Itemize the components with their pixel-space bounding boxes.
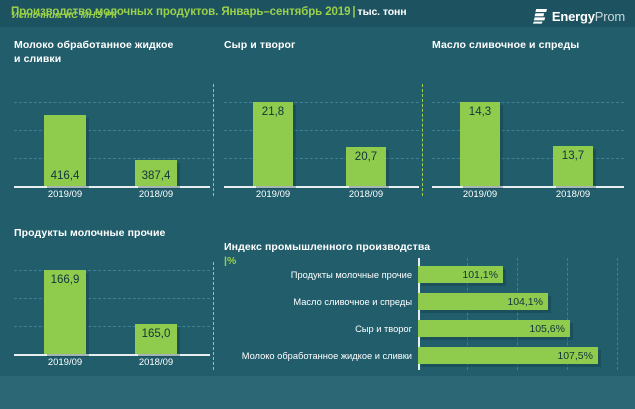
table-row: Молоко обработанное жидкое и сливки 107,… xyxy=(224,347,624,364)
row-label: Сыр и творог xyxy=(355,324,412,334)
bar-value-label: 105,6% xyxy=(529,323,565,335)
bar-2018[interactable]: 13,7 xyxy=(553,146,593,186)
chart-production-index: Продукты молочные прочие 101,1% Масло сл… xyxy=(224,258,624,370)
brand-logo[interactable]: EnergyProm xyxy=(533,8,625,24)
panel-production-index-title-text: Индекс промышленного производства xyxy=(224,241,430,253)
chart-cheese: 21,8 20,7 2019/09 2018/09 xyxy=(224,84,419,196)
bar-index[interactable]: 105,6% xyxy=(418,320,570,337)
x-tick-2018: 2018/09 xyxy=(346,189,386,200)
bar-value-label: 20,7 xyxy=(346,151,386,163)
bar-index[interactable]: 101,1% xyxy=(418,266,503,283)
bar-value-label: 21,8 xyxy=(253,106,293,118)
panel-butter-title: Масло сливочное и спреды xyxy=(432,38,627,52)
axis-baseline xyxy=(14,186,210,188)
table-row: Продукты молочные прочие 101,1% xyxy=(224,266,624,283)
row-label: Молоко обработанное жидкое и сливки xyxy=(242,351,412,361)
axis-baseline xyxy=(224,186,419,188)
footer-band xyxy=(0,376,635,409)
panel-cheese: Сыр и творог xyxy=(224,38,414,52)
bar-2018[interactable]: 20,7 xyxy=(346,147,386,186)
bar-index[interactable]: 104,1% xyxy=(418,293,548,310)
bar-value-label: 166,9 xyxy=(44,274,86,286)
axis-baseline xyxy=(14,354,210,356)
source-note: Источник: КС МНЭ РК xyxy=(12,10,117,21)
bar-value-label: 13,7 xyxy=(553,150,593,162)
chart-butter: 14,3 13,7 2019/09 2018/09 xyxy=(432,84,624,196)
bar-index[interactable]: 107,5% xyxy=(418,347,598,364)
bar-2019[interactable]: 416,4 xyxy=(44,115,86,186)
panel-milk-title: Молоко обработанное жидкое и сливки xyxy=(14,38,209,66)
energyprom-e-icon xyxy=(533,8,548,24)
bar-value-label: 104,1% xyxy=(507,296,543,308)
x-tick-2018: 2018/09 xyxy=(135,357,177,368)
infographic-canvas: Производство молочных продуктов. Январь–… xyxy=(0,0,635,409)
x-tick-2019: 2019/09 xyxy=(253,189,293,200)
divider-vertical-2 xyxy=(422,84,423,196)
x-tick-2019: 2019/09 xyxy=(44,357,86,368)
panel-other-dairy-title: Продукты молочные прочие xyxy=(14,226,209,240)
panel-milk: Молоко обработанное жидкое и сливки xyxy=(14,38,209,66)
bar-2018[interactable]: 165,0 xyxy=(135,324,177,354)
panel-butter: Масло сливочное и спреды xyxy=(432,38,627,52)
x-tick-2018: 2018/09 xyxy=(135,189,177,200)
x-tick-2019: 2019/09 xyxy=(44,189,86,200)
x-tick-2018: 2018/09 xyxy=(553,189,593,200)
bar-2019[interactable]: 166,9 xyxy=(44,270,86,354)
row-label: Продукты молочные прочие xyxy=(291,270,412,280)
brand-energy: Energy xyxy=(552,9,595,24)
bar-value-label: 416,4 xyxy=(44,170,86,182)
chart-milk: 416,4 387,4 2019/09 2018/09 xyxy=(14,84,210,196)
title-separator: | xyxy=(350,6,357,18)
brand-logo-text: EnergyProm xyxy=(552,10,625,23)
bar-2019[interactable]: 14,3 xyxy=(460,102,500,186)
brand-prom: Prom xyxy=(595,9,625,24)
table-row: Масло сливочное и спреды 104,1% xyxy=(224,293,624,310)
table-row: Сыр и творог 105,6% xyxy=(224,320,624,337)
bar-2019[interactable]: 21,8 xyxy=(253,102,293,186)
axis-baseline xyxy=(432,186,624,188)
x-tick-2019: 2019/09 xyxy=(460,189,500,200)
chart-other-dairy: 166,9 165,0 2019/09 2018/09 xyxy=(14,262,210,370)
bar-value-label: 14,3 xyxy=(460,106,500,118)
bar-value-label: 165,0 xyxy=(135,328,177,340)
title-unit: тыс. тонн xyxy=(358,6,407,18)
bar-value-label: 387,4 xyxy=(135,170,177,182)
panel-other-dairy: Продукты молочные прочие xyxy=(14,226,209,240)
bar-value-label: 101,1% xyxy=(462,269,498,281)
divider-vertical-3 xyxy=(213,262,214,370)
row-label: Масло сливочное и спреды xyxy=(293,297,412,307)
bar-value-label: 107,5% xyxy=(557,350,593,362)
gridline xyxy=(14,102,210,103)
divider-vertical-1 xyxy=(213,84,214,196)
panel-cheese-title: Сыр и творог xyxy=(224,38,414,52)
bar-2018[interactable]: 387,4 xyxy=(135,160,177,186)
